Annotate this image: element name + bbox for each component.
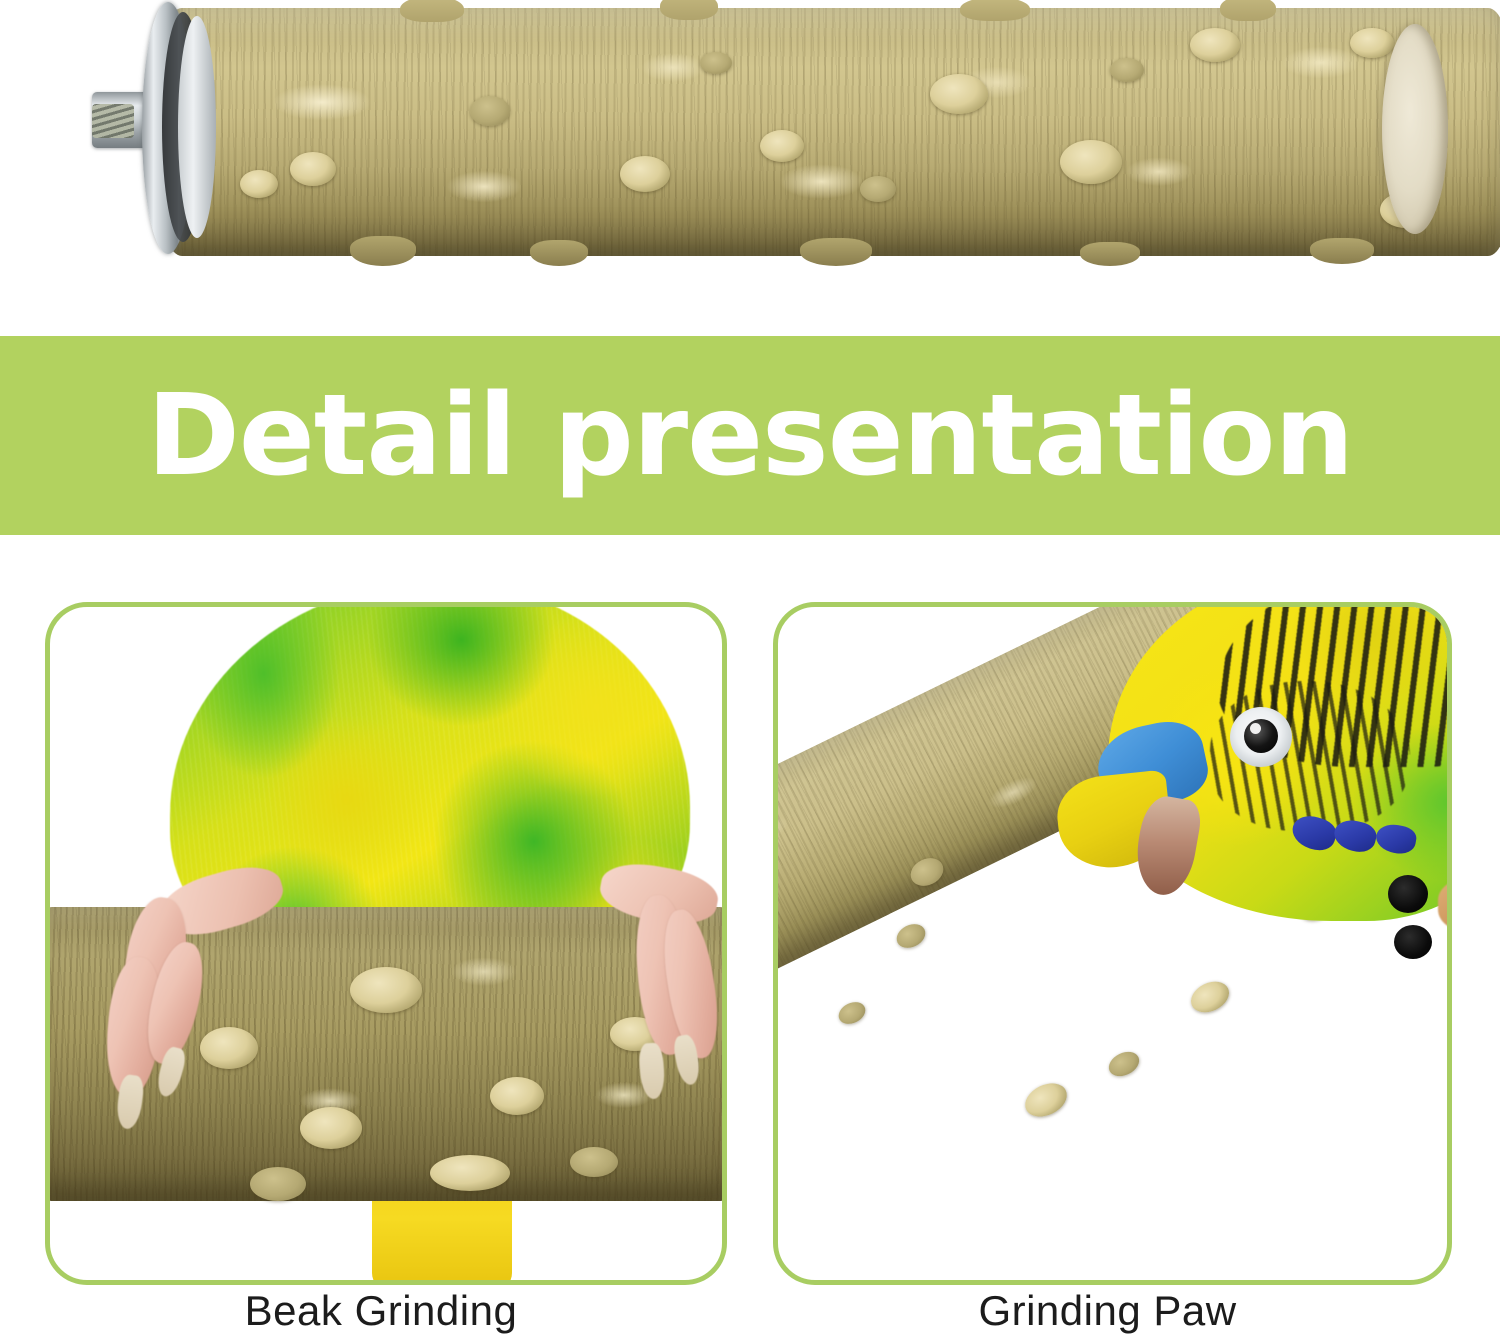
- bark-lump-icon: [1310, 238, 1374, 264]
- bark-knob-icon: [930, 74, 988, 114]
- bark-lump-icon: [1080, 242, 1140, 266]
- bark-lump-icon: [400, 0, 464, 22]
- bark-knob-icon: [240, 170, 278, 198]
- bark-lump-icon: [350, 236, 416, 266]
- bark-knob-icon: [1020, 1077, 1073, 1123]
- bark-knob-icon: [430, 1155, 510, 1191]
- bark-nodule-icon: [1105, 1047, 1143, 1081]
- bark-knob-icon: [350, 967, 422, 1013]
- bark-lump-icon: [660, 0, 718, 20]
- panel-frame-right: [773, 602, 1452, 1285]
- banner-title: Detail presentation: [147, 380, 1353, 492]
- budgie-throat-spot: [1394, 925, 1432, 959]
- bark-nodule-icon: [860, 176, 896, 202]
- bark-lump-icon: [800, 238, 872, 266]
- bark-nodule-icon: [1110, 58, 1144, 82]
- bark-nodule-icon: [570, 1147, 618, 1177]
- bark-knob-icon: [1190, 28, 1240, 62]
- bark-lump-icon: [530, 240, 588, 266]
- bark-lump-icon: [960, 0, 1030, 21]
- bark-nodule-icon: [470, 96, 510, 126]
- branch-bark-body: [160, 8, 1500, 256]
- section-banner: Detail presentation: [0, 336, 1500, 535]
- budgie-throat-spot: [1388, 875, 1428, 913]
- detail-panels: Beak Grinding: [0, 535, 1500, 1341]
- panel-frame-left: [45, 602, 727, 1285]
- panel-caption-left: Beak Grinding: [45, 1287, 717, 1335]
- bark-knob-icon: [490, 1077, 544, 1115]
- budgie-foot-left: [90, 879, 330, 1139]
- hero-product-image: [0, 0, 1500, 336]
- bark-knob-icon: [1186, 976, 1234, 1019]
- budgie-eye-highlight: [1250, 723, 1261, 734]
- washer-face: [178, 16, 216, 238]
- bark-nodule-icon: [893, 920, 930, 953]
- budgie-foot-right: [590, 875, 727, 1135]
- panel-caption-right: Grinding Paw: [773, 1287, 1442, 1335]
- bark-nodule-icon: [835, 998, 869, 1028]
- budgie-eye: [1244, 719, 1278, 753]
- bark-knob-icon: [620, 156, 670, 192]
- bark-knob-icon: [760, 130, 804, 162]
- bolt-threads-icon: [92, 104, 134, 138]
- bark-nodule-icon: [700, 52, 732, 74]
- bark-nodule-icon: [250, 1167, 306, 1201]
- product-detail-page: Detail presentation: [0, 0, 1500, 1341]
- wood-perch-illustration: [100, 0, 1440, 300]
- bark-knob-icon: [1060, 140, 1122, 184]
- bark-knob-icon: [1350, 28, 1394, 58]
- bark-lump-icon: [1220, 0, 1276, 21]
- cut-wood-end: [1382, 24, 1448, 234]
- bark-knob-icon: [290, 152, 336, 186]
